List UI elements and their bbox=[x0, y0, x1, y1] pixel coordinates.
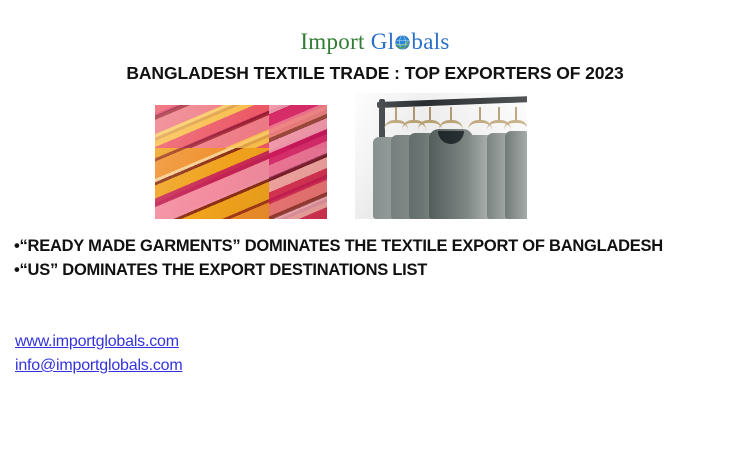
logo-text-import: Import bbox=[300, 29, 364, 54]
globe-icon bbox=[394, 30, 411, 47]
email-link[interactable]: info@importglobals.com bbox=[15, 354, 182, 378]
fabric-sheen-overlay bbox=[155, 105, 327, 219]
logo-text-bals: bals bbox=[411, 29, 449, 54]
bullet-item: •“READY MADE GARMENTS” DOMINATES THE TEX… bbox=[14, 234, 744, 258]
rack-shading-overlay bbox=[355, 93, 527, 219]
bullet-item: •“US” DOMINATES THE EXPORT DESTINATIONS … bbox=[14, 258, 744, 282]
contact-links: www.importglobals.com info@importglobals… bbox=[15, 330, 182, 378]
colorful-textiles-photo bbox=[155, 105, 327, 219]
bullet-list: •“READY MADE GARMENTS” DOMINATES THE TEX… bbox=[14, 234, 744, 282]
shirts-on-rack-photo bbox=[355, 93, 527, 219]
slide-canvas: Import Gl bals BANGLADESH TEXTILE TRADE … bbox=[0, 0, 750, 450]
logo-text-gl: Gl bbox=[371, 29, 395, 54]
page-title: BANGLADESH TEXTILE TRADE : TOP EXPORTERS… bbox=[0, 63, 750, 84]
website-link[interactable]: www.importglobals.com bbox=[15, 330, 182, 354]
brand-logo: Import Gl bals bbox=[0, 28, 750, 56]
